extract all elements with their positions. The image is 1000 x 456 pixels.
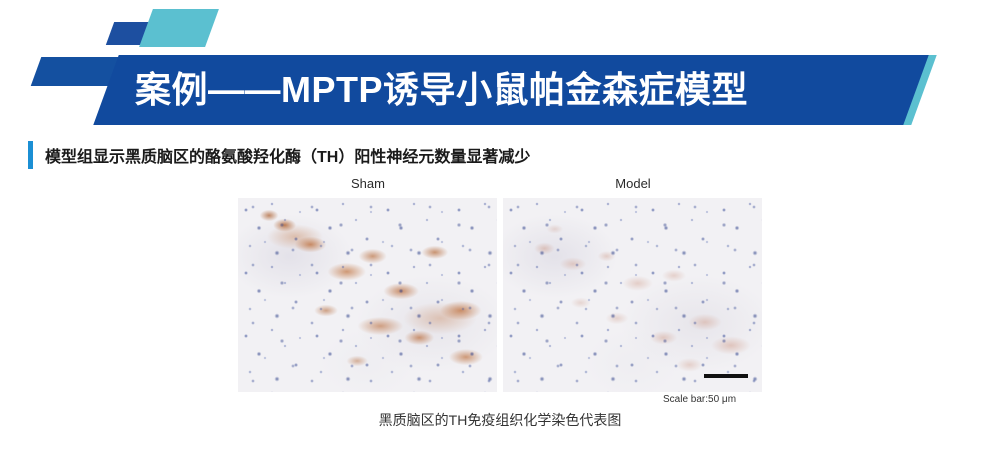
figure-block: Sham Model Scale bar:50 μm	[238, 176, 763, 198]
subtitle-row: 模型组显示黑质脑区的酪氨酸羟化酶（TH）阳性神经元数量显著减少	[28, 140, 530, 170]
scale-bar-line	[704, 374, 748, 378]
figure-caption: 黑质脑区的TH免疫组织化学染色代表图	[0, 410, 1000, 430]
panel-label-row: Sham Model	[238, 176, 763, 198]
decorative-parallelogram-teal	[139, 9, 219, 47]
panel-label-model: Model	[503, 176, 763, 191]
panel-label-sham: Sham	[238, 176, 498, 191]
histology-image-sham	[238, 198, 497, 392]
panel-row	[238, 198, 763, 392]
subtitle-accent-bar	[28, 141, 33, 169]
histology-image-model	[503, 198, 762, 392]
page-title: 案例——MPTP诱导小鼠帕金森症模型	[135, 62, 895, 118]
subtitle-text: 模型组显示黑质脑区的酪氨酸羟化酶（TH）阳性神经元数量显著减少	[45, 143, 530, 167]
nuclei-layer-2-model	[503, 198, 762, 392]
page-header: 案例——MPTP诱导小鼠帕金森症模型	[0, 0, 1000, 130]
nuclei-layer-2-sham	[238, 198, 497, 392]
scale-bar-label: Scale bar:50 μm	[663, 394, 736, 405]
